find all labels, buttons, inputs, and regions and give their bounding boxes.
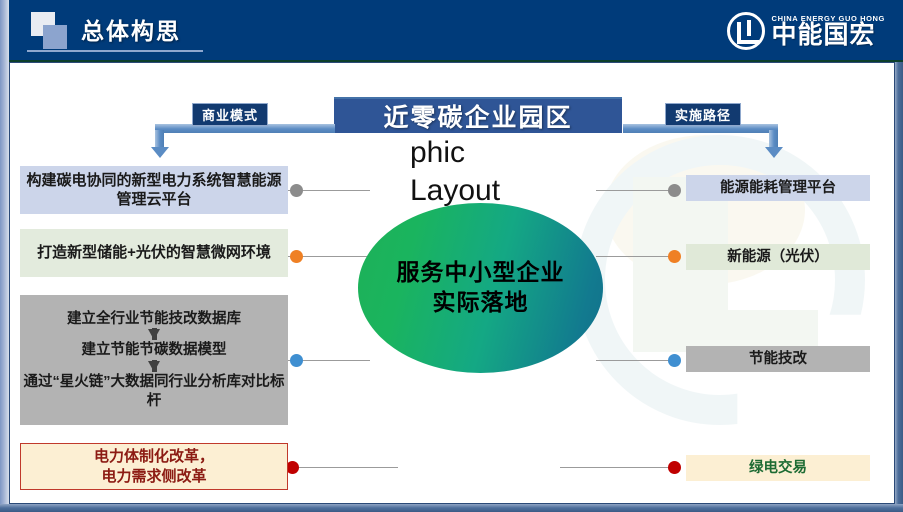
left-card-3-line-2: 建立节能节碳数据模型 — [82, 341, 227, 360]
left-card-3-line-1: 建立全行业节能技改数据库 — [67, 310, 241, 329]
elbow-arrow-left — [155, 124, 335, 162]
connector-dot-right-3 — [668, 354, 681, 367]
connector-dot-right-1 — [668, 184, 681, 197]
title-underline — [27, 50, 203, 52]
arrow-down-icon-2 — [148, 361, 160, 372]
slide-canvas: 总体构思 CHINA ENERGY GUO HONG 中能国宏 近零碳企业园区 … — [0, 0, 903, 512]
right-card-1-label: 能源能耗管理平台 — [720, 179, 836, 198]
circle-g-logo-icon — [727, 12, 765, 50]
right-card-3[interactable]: 节能技改 — [686, 346, 870, 372]
connector-right-4 — [560, 467, 680, 468]
right-card-1[interactable]: 能源能耗管理平台 — [686, 175, 870, 201]
center-hub-line-1: 服务中小型企业 — [397, 258, 565, 288]
brand-name-chinese: 中能国宏 — [772, 23, 885, 48]
brand-logo: CHINA ENERGY GUO HONG 中能国宏 — [727, 10, 885, 52]
left-card-1[interactable]: 构建碳电协同的新型电力系统智慧能源管理云平台 — [20, 166, 288, 214]
frame-left-edge — [0, 0, 9, 512]
right-card-2[interactable]: 新能源（光伏） — [686, 244, 870, 270]
elbow-arrow-left-stem — [155, 130, 164, 148]
connector-dot-right-2 — [668, 250, 681, 263]
left-card-2[interactable]: 打造新型储能+光伏的智慧微网环境 — [20, 229, 288, 277]
connector-dot-left-1 — [290, 184, 303, 197]
left-card-1-line-1: 构建碳电协同的新型电力系统智慧能源管理云平台 — [20, 171, 288, 209]
left-card-3-line-3: 通过“星火链”大数据同行业分析库对比标杆 — [20, 373, 288, 410]
frame-right-edge — [895, 0, 903, 512]
left-card-3[interactable]: 建立全行业节能技改数据库 建立节能节碳数据模型 通过“星火链”大数据同行业分析库… — [20, 295, 288, 425]
left-card-4-line-1: 电力体制化改革， — [94, 447, 214, 466]
connector-left-4 — [288, 467, 398, 468]
left-card-2-line-1: 打造新型储能+光伏的智慧微网环境 — [37, 243, 271, 262]
elbow-arrow-right — [623, 124, 778, 162]
tag-implementation-path: 实施路径 — [665, 103, 741, 126]
center-hub-line-2: 实际落地 — [433, 288, 529, 318]
center-hub-ellipse: 服务中小型企业 实际落地 — [358, 203, 603, 373]
elbow-arrow-right-stem — [769, 130, 778, 148]
right-card-3-label: 节能技改 — [749, 350, 807, 369]
square-blue-icon — [43, 25, 67, 49]
connector-dot-right-4 — [668, 461, 681, 474]
diagram-title: 近零碳企业园区 — [334, 97, 622, 133]
connector-dot-left-3 — [290, 354, 303, 367]
tag-business-model: 商业模式 — [192, 103, 268, 126]
left-card-4[interactable]: 电力体制化改革， 电力需求侧改革 — [20, 443, 288, 490]
overlay-stray-text: phic Layout — [410, 134, 500, 210]
right-card-4[interactable]: 绿电交易 — [686, 455, 870, 481]
slide-header: 总体构思 CHINA ENERGY GUO HONG 中能国宏 — [9, 0, 903, 62]
connector-dot-left-2 — [290, 250, 303, 263]
right-card-4-label: 绿电交易 — [749, 459, 807, 478]
elbow-arrow-right-head-icon — [765, 147, 783, 158]
left-card-4-line-2: 电力需求侧改革 — [101, 467, 206, 486]
frame-bottom-edge — [0, 504, 903, 512]
right-card-2-label: 新能源（光伏） — [727, 248, 829, 267]
brand-logo-text: CHINA ENERGY GUO HONG 中能国宏 — [772, 14, 885, 48]
arrow-down-icon-1 — [148, 329, 160, 340]
elbow-arrow-left-head-icon — [151, 147, 169, 158]
page-title: 总体构思 — [81, 12, 181, 46]
